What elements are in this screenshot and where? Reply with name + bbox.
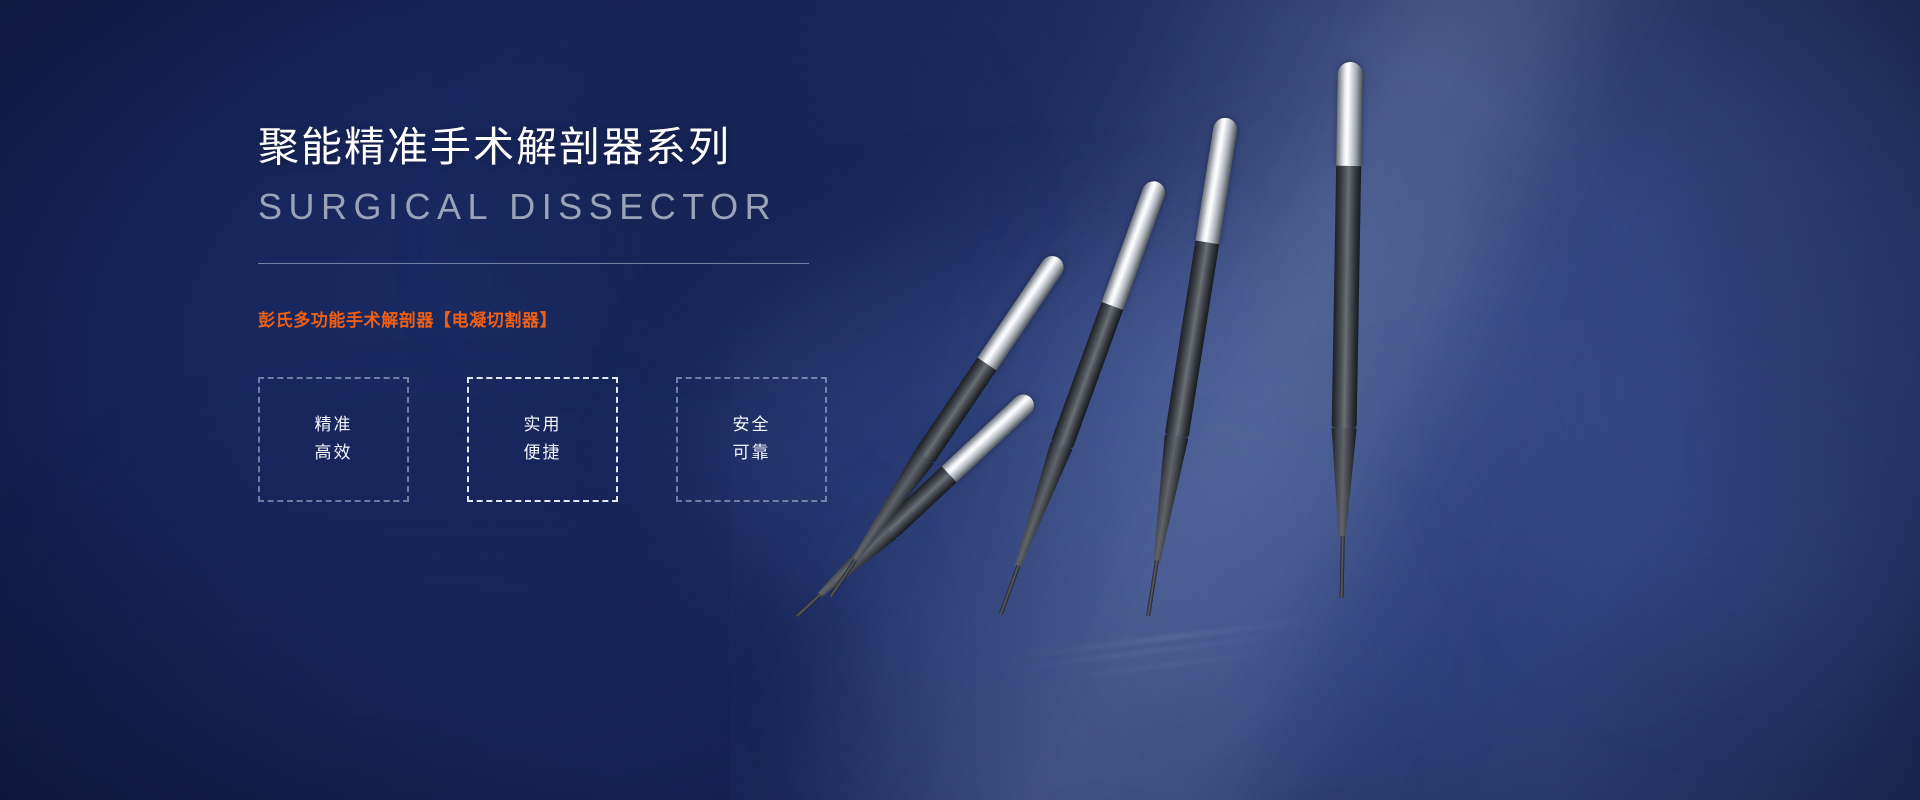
feature-badge-line: 实用 xyxy=(524,411,562,439)
feature-badge-line: 高效 xyxy=(315,439,353,467)
feature-badge-3: 安全 可靠 xyxy=(676,377,827,502)
hero-text-block: 聚能精准手术解剖器系列 SURGICAL DISSECTOR 彭氏多功能手术解剖… xyxy=(258,120,1078,502)
product-name-label: 彭氏多功能手术解剖器【电凝切割器】 xyxy=(258,306,1078,331)
page-title: 聚能精准手术解剖器系列 xyxy=(258,120,1078,175)
page-subtitle-english: SURGICAL DISSECTOR xyxy=(258,185,1078,228)
feature-badge-line: 精准 xyxy=(315,411,353,439)
feature-badge-1: 精准 高效 xyxy=(258,377,409,502)
feature-badge-line: 便捷 xyxy=(524,439,562,467)
feature-badge-line: 可靠 xyxy=(733,439,771,467)
product-hero-banner: 聚能精准手术解剖器系列 SURGICAL DISSECTOR 彭氏多功能手术解剖… xyxy=(0,0,1920,800)
divider xyxy=(258,263,809,264)
feature-badge-2: 实用 便捷 xyxy=(467,377,618,502)
feature-badge-line: 安全 xyxy=(733,411,771,439)
feature-badge-list: 精准 高效 实用 便捷 安全 可靠 xyxy=(258,377,1078,502)
